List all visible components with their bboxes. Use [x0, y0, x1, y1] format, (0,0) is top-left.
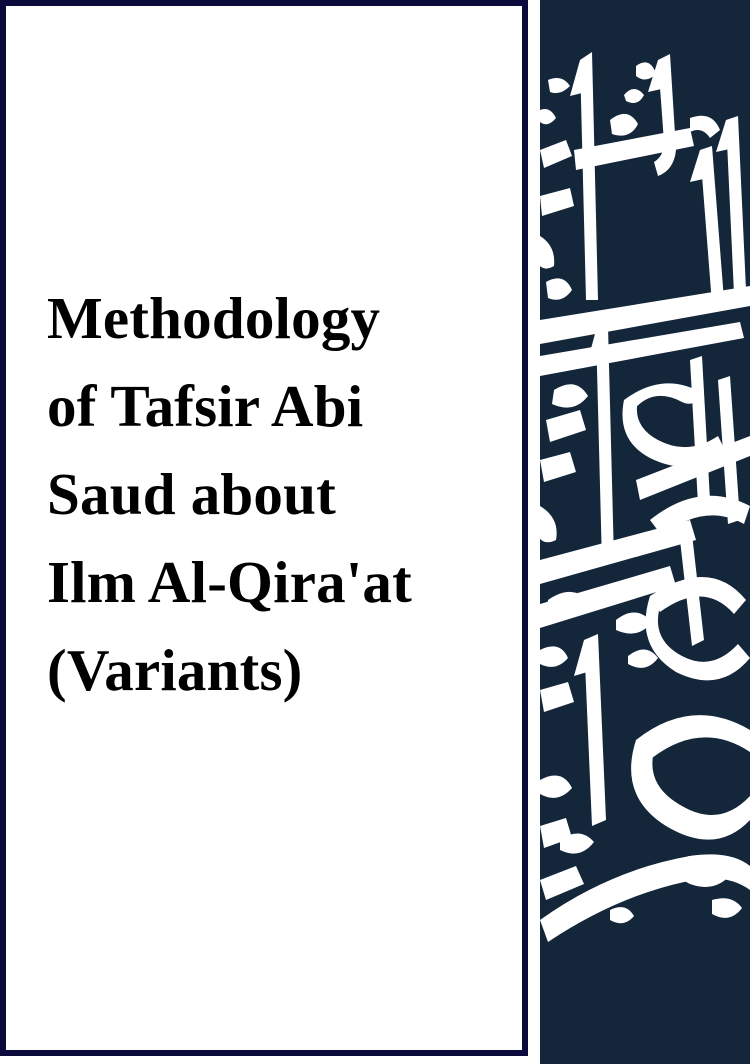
title-panel: Methodology of Tafsir Abi Saud about Ilm…: [0, 0, 528, 1056]
title-line-4: Ilm Al-Qira'at: [47, 538, 487, 626]
title-line-5: (Variants): [47, 626, 487, 714]
book-cover: Methodology of Tafsir Abi Saud about Ilm…: [0, 0, 750, 1064]
page-title: Methodology of Tafsir Abi Saud about Ilm…: [47, 274, 487, 714]
calligraphy-band: [540, 0, 750, 1064]
arabic-calligraphy-icon: [540, 0, 750, 1064]
title-line-3: Saud about: [47, 450, 487, 538]
panel-divider-gap: [528, 0, 540, 1064]
title-line-2: of Tafsir Abi: [47, 362, 487, 450]
title-line-1: Methodology: [47, 274, 487, 362]
